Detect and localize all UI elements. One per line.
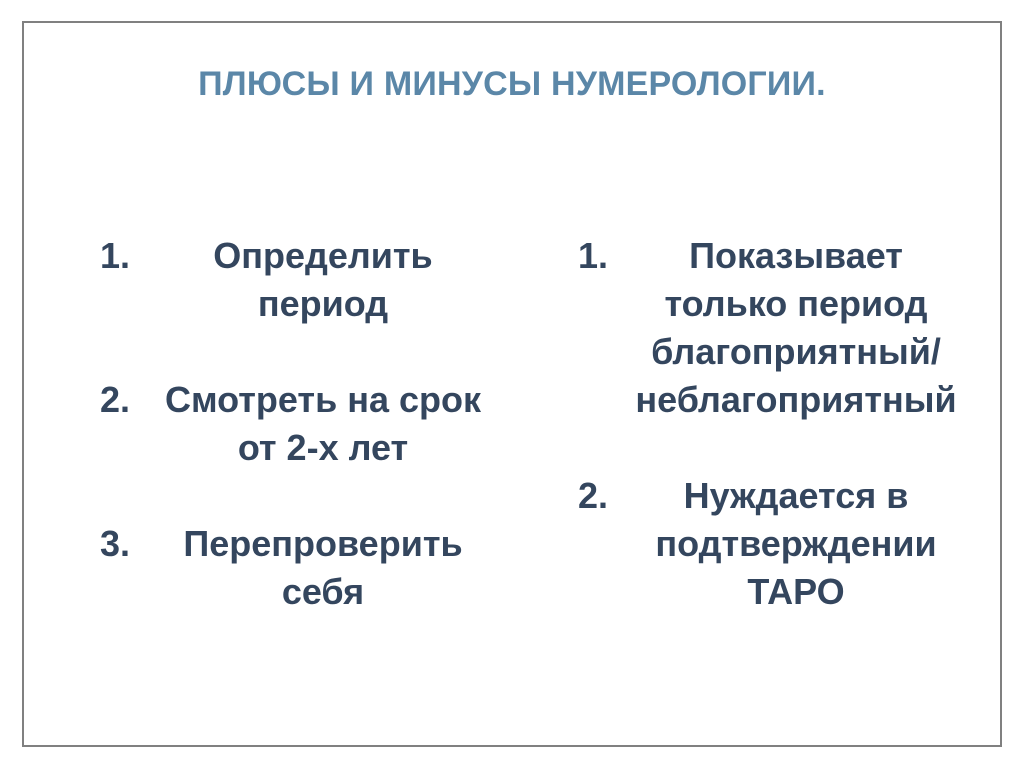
list-item: 1. Определить период bbox=[88, 232, 498, 328]
list-item: 1. Показывает только период благоприятны… bbox=[566, 232, 966, 424]
list-item-label: Нуждается в подтверждении ТАРО bbox=[580, 472, 966, 616]
column-cons: 1. Показывает только период благоприятны… bbox=[566, 232, 966, 616]
list-item: 3. Перепроверить себя bbox=[88, 520, 498, 616]
list-item-number: 2. bbox=[578, 472, 624, 520]
list-item: 2. Смотреть на срок от 2-х лет bbox=[88, 376, 498, 472]
list-item-label: Определить период bbox=[102, 232, 498, 328]
slide: ПЛЮСЫ И МИНУСЫ НУМЕРОЛОГИИ. 1. Определит… bbox=[0, 0, 1024, 768]
list-item-label: Перепроверить себя bbox=[102, 520, 498, 616]
list-item-number: 1. bbox=[100, 232, 146, 280]
list-item-number: 2. bbox=[100, 376, 146, 424]
list-item-label: Смотреть на срок от 2-х лет bbox=[102, 376, 498, 472]
list-item-number: 1. bbox=[578, 232, 624, 280]
list-item: 2. Нуждается в подтверждении ТАРО bbox=[566, 472, 966, 616]
page-title: ПЛЮСЫ И МИНУСЫ НУМЕРОЛОГИИ. bbox=[0, 64, 1024, 104]
content-columns: 1. Определить период 2. Смотреть на срок… bbox=[0, 232, 1024, 652]
list-item-label: Показывает только период благоприятный/ … bbox=[580, 232, 966, 424]
list-item-number: 3. bbox=[100, 520, 146, 568]
column-pros: 1. Определить период 2. Смотреть на срок… bbox=[88, 232, 498, 616]
